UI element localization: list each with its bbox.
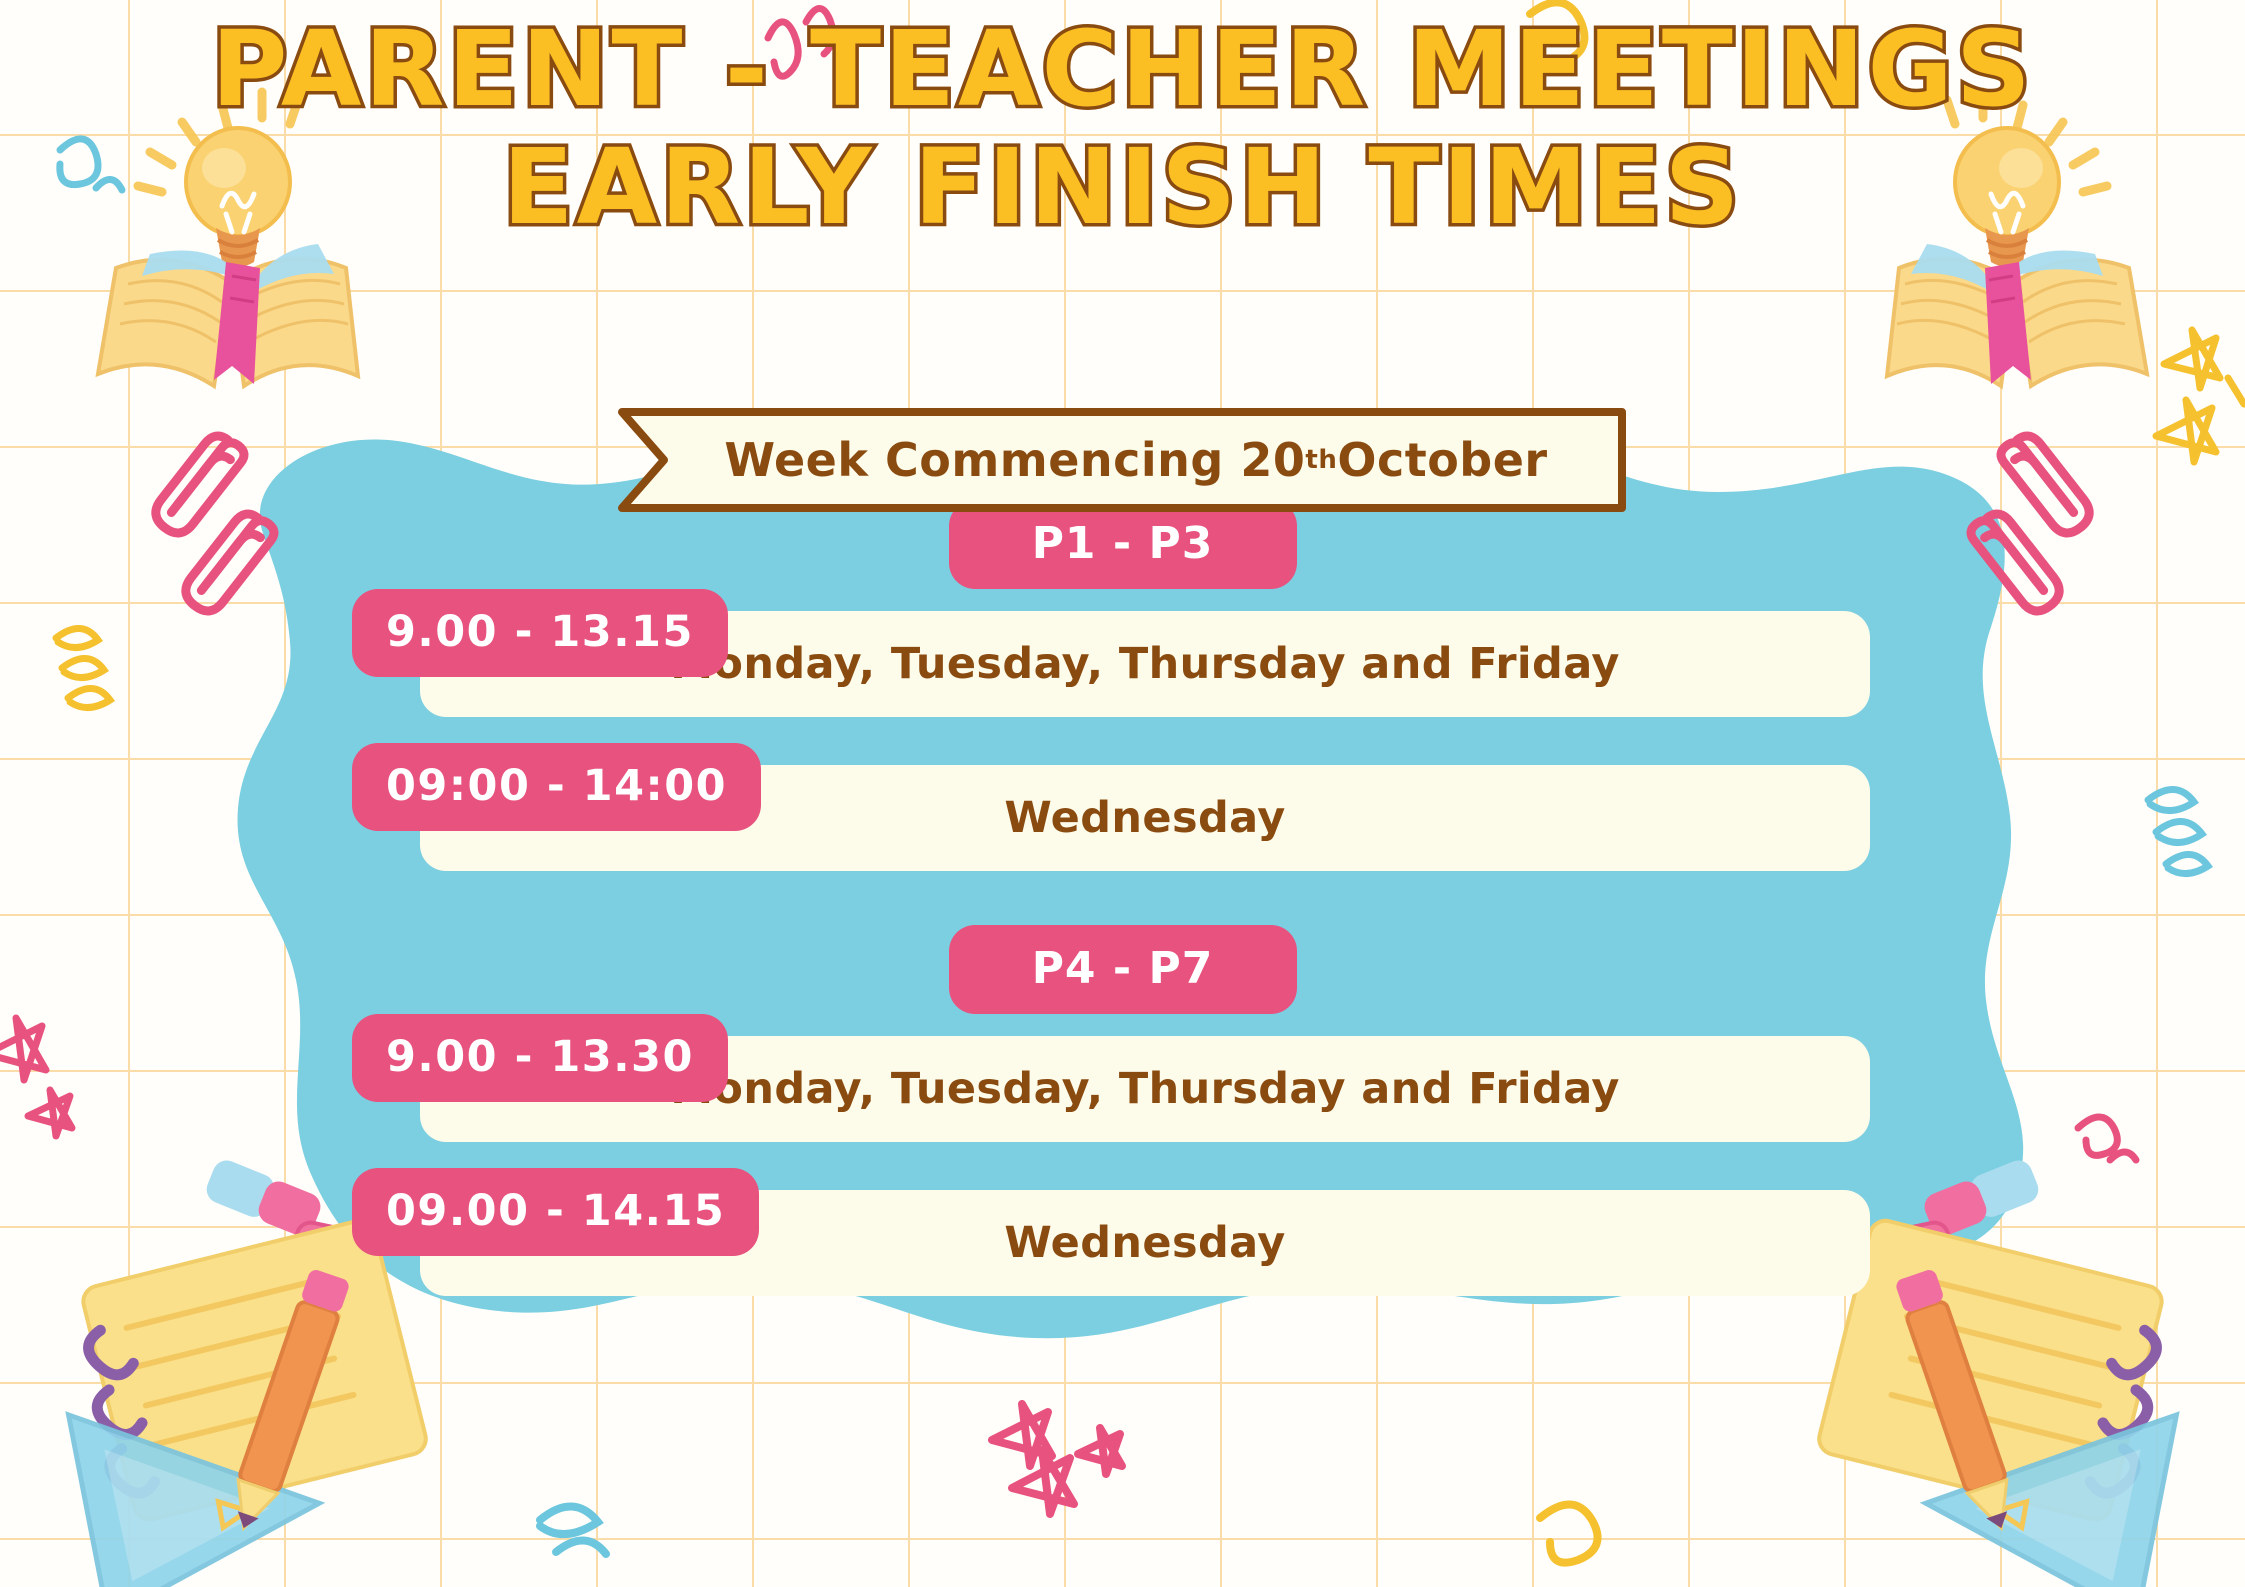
schedule-list: P1 - P3 Monday, Tuesday, Thursday and Fr…: [0, 500, 2245, 1296]
poster-canvas: Parent - Teacher Meetings Early Finish T…: [0, 0, 2245, 1587]
spacer: [0, 1142, 2245, 1168]
time-badge-2[interactable]: 9.00 - 13.30: [352, 1014, 728, 1102]
title-line-1: Parent - Teacher Meetings: [0, 14, 2245, 124]
spacer: [0, 871, 2245, 925]
time-badge-0[interactable]: 9.00 - 13.15: [352, 589, 728, 677]
day-text-3: Wednesday: [1004, 1218, 1285, 1268]
schedule-entry-2: Monday, Tuesday, Thursday and Friday 9.0…: [0, 1014, 2245, 1142]
spacer: [0, 717, 2245, 743]
day-text-0: Monday, Tuesday, Thursday and Friday: [670, 639, 1620, 689]
banner-suffix: October: [1337, 433, 1547, 487]
banner-prefix: Week Commencing 20: [724, 433, 1305, 487]
time-badge-3[interactable]: 09.00 - 14.15: [352, 1168, 759, 1256]
schedule-entry-3: Wednesday 09.00 - 14.15: [0, 1168, 2245, 1296]
banner-text: Week Commencing 20th October: [612, 406, 1632, 514]
group-header-row-1: P4 - P7: [0, 925, 2245, 1014]
week-commencing-banner: Week Commencing 20th October: [612, 406, 1632, 514]
time-badge-1[interactable]: 09:00 - 14:00: [352, 743, 761, 831]
poster-title: Parent - Teacher Meetings Early Finish T…: [0, 14, 2245, 242]
schedule-entry-0: Monday, Tuesday, Thursday and Friday 9.0…: [0, 589, 2245, 717]
title-line-2: Early Finish Times: [0, 132, 2245, 242]
day-text-1: Wednesday: [1004, 793, 1285, 843]
group-badge-p4-p7[interactable]: P4 - P7: [949, 925, 1297, 1014]
schedule-entry-1: Wednesday 09:00 - 14:00: [0, 743, 2245, 871]
day-text-2: Monday, Tuesday, Thursday and Friday: [670, 1064, 1620, 1114]
